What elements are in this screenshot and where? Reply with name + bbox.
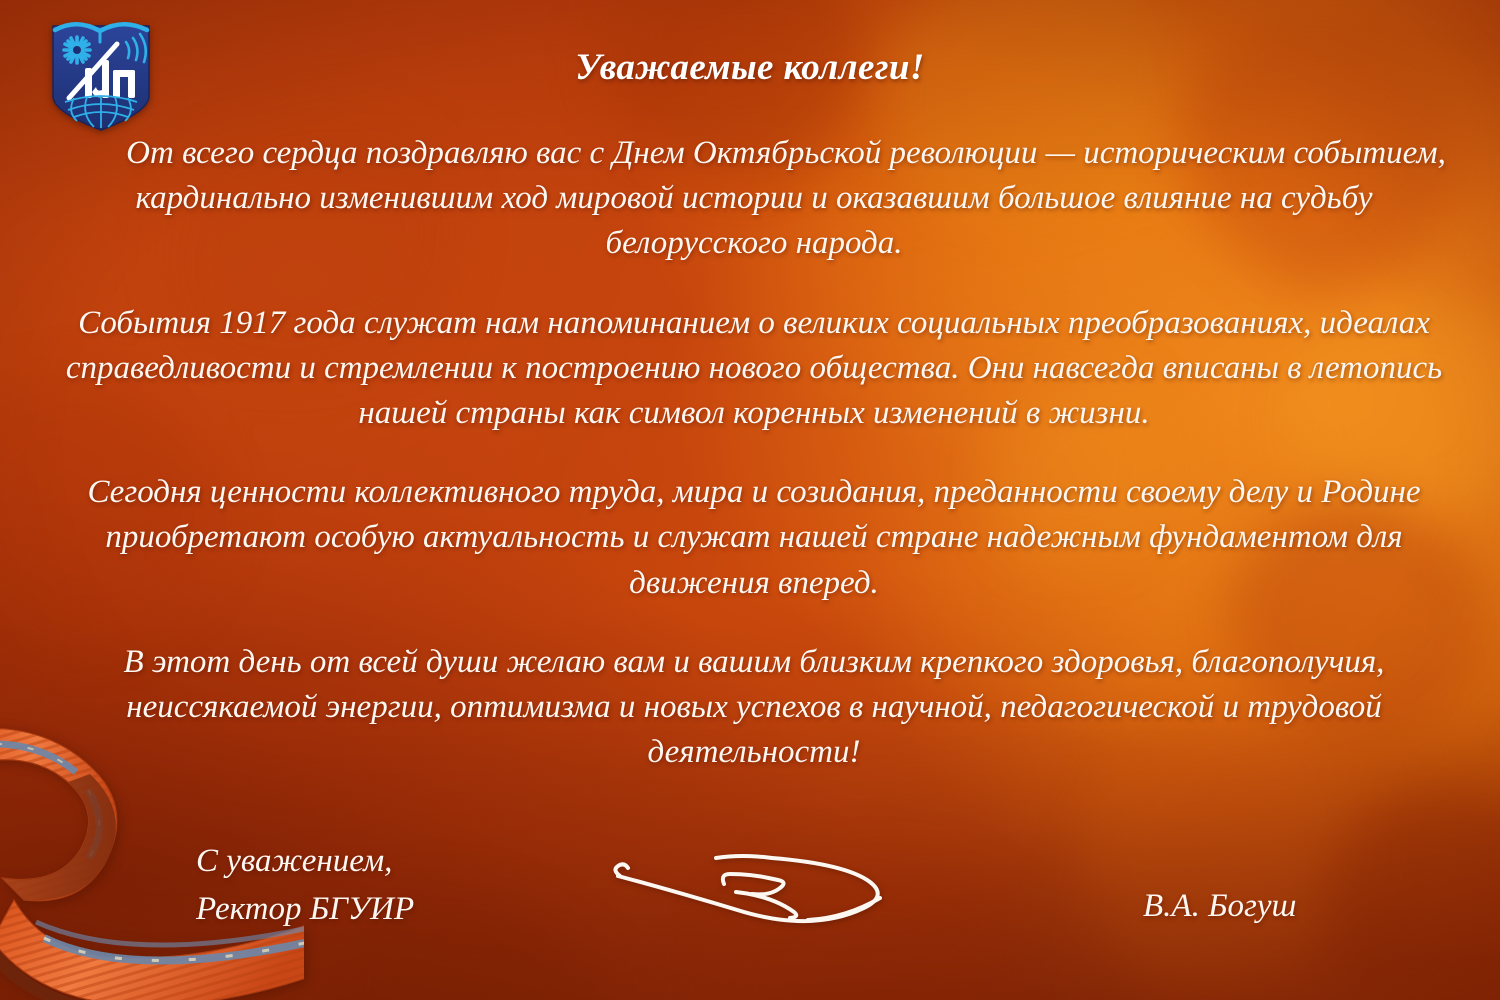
letter-paragraph: События 1917 года служат нам напоминание… <box>54 301 1454 437</box>
letter-paragraph: От всего сердца поздравляю вас с Днем Ок… <box>54 131 1454 267</box>
signature-left: С уважением, Ректор БГУИР <box>196 838 414 933</box>
signature-position: Ректор БГУИР <box>196 886 414 934</box>
signature-name: В.А. Богуш <box>1143 888 1296 925</box>
signature-block: С уважением, Ректор БГУИР В.А. Богуш <box>0 838 1500 958</box>
signature-closing: С уважением, <box>196 838 414 886</box>
letter-paragraph: Сегодня ценности коллективного труда, ми… <box>54 470 1454 606</box>
page-title: Уважаемые коллеги! <box>0 46 1500 89</box>
letter-paragraph: В этот день от всей души желаю вам и ваш… <box>54 640 1454 776</box>
greeting-card: Уважаемые коллеги! От всего сердца поздр… <box>0 0 1500 1000</box>
letter-body: От всего сердца поздравляю вас с Днем Ок… <box>54 131 1454 809</box>
